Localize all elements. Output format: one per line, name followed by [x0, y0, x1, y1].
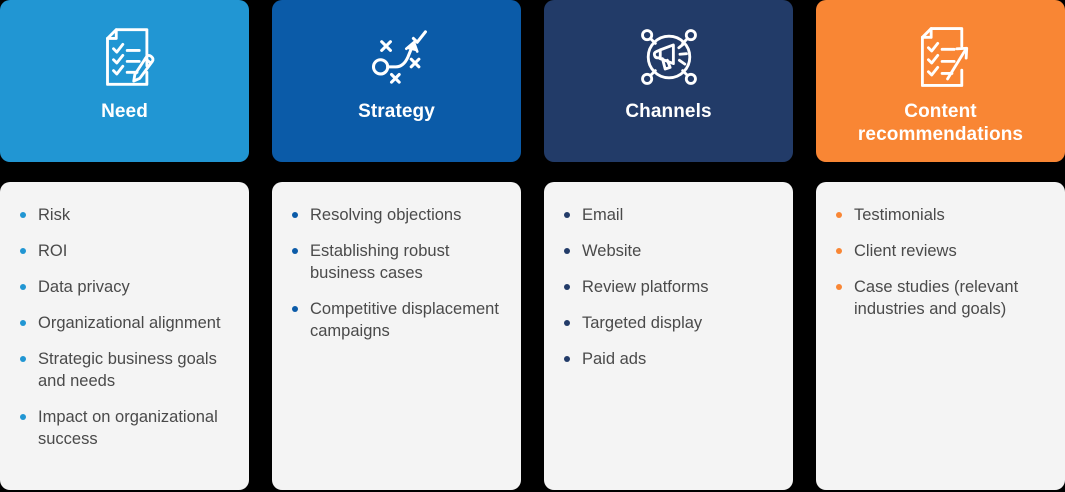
list-card-need: RiskROIData privacyOrganizational alignm…: [0, 182, 249, 490]
bullet-dot-icon: [836, 284, 842, 290]
bullet-dot-icon: [292, 306, 298, 312]
list-item: Case studies (relevant industries and go…: [832, 276, 1049, 320]
list-item: Review platforms: [560, 276, 777, 298]
checklist-pencil-icon: [90, 22, 160, 92]
list-item: Risk: [16, 204, 233, 226]
bullet-dot-icon: [20, 212, 26, 218]
bullet-list-channels: EmailWebsiteReview platformsTargeted dis…: [560, 204, 777, 370]
list-item-label: Organizational alignment: [38, 314, 221, 332]
header-card-strategy[interactable]: Strategy: [272, 0, 521, 162]
list-item-label: Case studies (relevant industries and go…: [854, 278, 1018, 318]
list-item-label: Testimonials: [854, 206, 945, 224]
header-card-channels[interactable]: Channels: [544, 0, 793, 162]
bullet-dot-icon: [20, 284, 26, 290]
list-item: Website: [560, 240, 777, 262]
list-item: Paid ads: [560, 348, 777, 370]
bullet-dot-icon: [20, 248, 26, 254]
list-item-label: Website: [582, 242, 641, 260]
list-item-label: Establishing robust business cases: [310, 242, 449, 282]
column-need: NeedRiskROIData privacyOrganizational al…: [0, 0, 249, 492]
header-title-strategy: Strategy: [350, 100, 443, 123]
list-item: Targeted display: [560, 312, 777, 334]
list-item-label: Email: [582, 206, 623, 224]
column-strategy: StrategyResolving objectionsEstablishing…: [272, 0, 521, 492]
list-item: Resolving objections: [288, 204, 505, 226]
list-item-label: Review platforms: [582, 278, 709, 296]
bullet-dot-icon: [292, 248, 298, 254]
header-card-content-recommendations[interactable]: Content recommendations: [816, 0, 1065, 162]
header-card-need[interactable]: Need: [0, 0, 249, 162]
list-item: Impact on organizational success: [16, 406, 233, 450]
list-item: Strategic business goals and needs: [16, 348, 233, 392]
list-card-channels: EmailWebsiteReview platformsTargeted dis…: [544, 182, 793, 490]
header-title-channels: Channels: [617, 100, 719, 123]
list-item: Organizational alignment: [16, 312, 233, 334]
list-item-label: Risk: [38, 206, 70, 224]
four-column-card-board: NeedRiskROIData privacyOrganizational al…: [0, 0, 1065, 492]
bullet-list-need: RiskROIData privacyOrganizational alignm…: [16, 204, 233, 450]
list-item-label: Competitive displacement campaigns: [310, 300, 499, 340]
bullet-dot-icon: [20, 356, 26, 362]
list-item-label: Impact on organizational success: [38, 408, 218, 448]
list-item: Testimonials: [832, 204, 1049, 226]
list-card-content-recommendations: TestimonialsClient reviewsCase studies (…: [816, 182, 1065, 490]
list-item: Data privacy: [16, 276, 233, 298]
bullet-dot-icon: [292, 212, 298, 218]
bullet-list-strategy: Resolving objectionsEstablishing robust …: [288, 204, 505, 342]
bullet-dot-icon: [20, 320, 26, 326]
bullet-dot-icon: [564, 356, 570, 362]
bullet-dot-icon: [564, 284, 570, 290]
list-item: Competitive displacement campaigns: [288, 298, 505, 342]
bullet-list-content-recommendations: TestimonialsClient reviewsCase studies (…: [832, 204, 1049, 320]
list-item-label: Client reviews: [854, 242, 957, 260]
list-item-label: Resolving objections: [310, 206, 461, 224]
megaphone-network-icon: [634, 22, 704, 92]
bullet-dot-icon: [20, 414, 26, 420]
list-item: Establishing robust business cases: [288, 240, 505, 284]
list-item-label: ROI: [38, 242, 67, 260]
list-item-label: Data privacy: [38, 278, 130, 296]
bullet-dot-icon: [564, 248, 570, 254]
checklist-arrow-icon: [906, 22, 976, 92]
bullet-dot-icon: [836, 248, 842, 254]
bullet-dot-icon: [836, 212, 842, 218]
strategy-path-icon: [362, 22, 432, 92]
list-item: ROI: [16, 240, 233, 262]
column-content-recommendations: Content recommendationsTestimonialsClien…: [816, 0, 1065, 492]
list-item-label: Paid ads: [582, 350, 646, 368]
header-title-need: Need: [93, 100, 156, 123]
bullet-dot-icon: [564, 212, 570, 218]
column-channels: ChannelsEmailWebsiteReview platformsTarg…: [544, 0, 793, 492]
list-item: Email: [560, 204, 777, 226]
header-title-content-recommendations: Content recommendations: [816, 100, 1065, 146]
list-item-label: Strategic business goals and needs: [38, 350, 217, 390]
list-item-label: Targeted display: [582, 314, 702, 332]
bullet-dot-icon: [564, 320, 570, 326]
list-item: Client reviews: [832, 240, 1049, 262]
list-card-strategy: Resolving objectionsEstablishing robust …: [272, 182, 521, 490]
